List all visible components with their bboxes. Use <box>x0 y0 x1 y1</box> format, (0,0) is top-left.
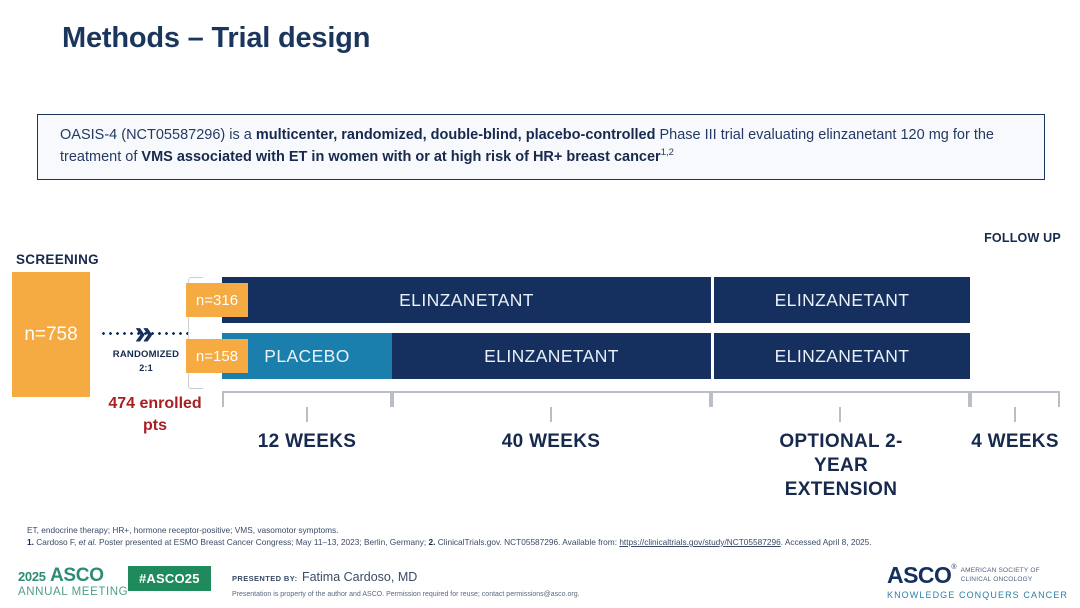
timeline-label-4-weeks: 4 WEEKS <box>950 430 1080 454</box>
trial-description-box: OASIS-4 (NCT05587296) is a multicenter, … <box>37 114 1045 180</box>
arm-bottom-segment-treatment-label: ELINZANETANT <box>484 346 619 367</box>
arm-bottom-segment-treatment: ELINZANETANT <box>392 333 711 379</box>
ref2-text-a: ClinicalTrials.gov. NCT05587296. Availab… <box>435 537 619 547</box>
timeline-label-12-weeks: 12 WEEKS <box>226 430 388 454</box>
trial-design-diagram: SCREENING n=758 » RANDOMIZED 2:1 ELINZAN… <box>0 225 1080 515</box>
asco-meeting-mark-line: 2025 ASCO <box>18 566 128 585</box>
timeline-tick-3 <box>839 407 841 422</box>
follow-up-label: FOLLOW UP <box>975 230 1070 246</box>
footnote-abbreviations: ET, endocrine therapy; HR+, hormone rece… <box>27 524 1047 536</box>
arm-top-segment-treatment: ELINZANETANT <box>222 277 711 323</box>
arm-bottom-n-box: n=158 <box>186 339 248 373</box>
randomized-ratio: 2:1 <box>139 363 153 373</box>
slide-root: Methods – Trial design OASIS-4 (NCT05587… <box>0 0 1080 608</box>
presenter-block: PRESENTED BY: Fatima Cardoso, MD Present… <box>232 568 580 598</box>
timeline-tick-4 <box>1014 407 1016 422</box>
screening-n-value: n=758 <box>24 324 77 346</box>
ref1-text-b: Poster presented at ESMO Breast Cancer C… <box>97 537 429 547</box>
asco-annual-meeting-logo: 2025 ASCO ANNUAL MEETING <box>18 566 128 599</box>
asco-meeting-mark: ASCO <box>50 565 104 586</box>
registered-trademark-icon: ® <box>951 564 956 571</box>
randomized-text: RANDOMIZED <box>113 349 179 360</box>
arm-top-segment-treatment-label: ELINZANETANT <box>399 290 534 311</box>
asco-meeting-year: 2025 <box>18 569 46 584</box>
asco-logo-top-row: ASCO® AMERICAN SOCIETY OF CLINICAL ONCOL… <box>887 564 1068 587</box>
asco-society-logo: ASCO® AMERICAN SOCIETY OF CLINICAL ONCOL… <box>887 564 1068 600</box>
randomized-label: RANDOMIZED 2:1 <box>100 349 192 376</box>
timeline-tick-1 <box>306 407 308 422</box>
screening-box: n=758 <box>12 272 90 397</box>
description-part1: OASIS-4 (NCT05587296) is a <box>60 127 256 143</box>
timeline-axis <box>0 391 1080 421</box>
double-chevron-right-icon: » <box>120 317 168 351</box>
description-bold1: multicenter, randomized, double-blind, p… <box>256 127 656 143</box>
screening-label: SCREENING <box>16 252 99 267</box>
timeline-bracket-3 <box>711 391 970 407</box>
timeline-label-40-weeks: 40 WEEKS <box>470 430 632 454</box>
ref1-number: 1. <box>27 537 34 547</box>
arm-top-n-value: n=316 <box>196 292 238 309</box>
asco-society-line1: AMERICAN SOCIETY OF <box>961 567 1040 574</box>
page-title: Methods – Trial design <box>62 22 370 55</box>
permission-notice: Presentation is property of the author a… <box>232 591 580 598</box>
presented-by-label: PRESENTED BY: <box>232 574 298 583</box>
description-superscript: 1,2 <box>661 148 674 159</box>
arm-top-n-box: n=316 <box>186 283 248 317</box>
ref1-italic: et al. <box>79 537 97 547</box>
asco-society-name: AMERICAN SOCIETY OF CLINICAL ONCOLOGY <box>961 567 1040 585</box>
timeline-bracket-2 <box>392 391 711 407</box>
arm-bottom-segment-extension-label: ELINZANETANT <box>775 346 910 367</box>
arm-bottom-n-value: n=158 <box>196 348 238 365</box>
arm-top-segment-extension: ELINZANETANT <box>711 277 970 323</box>
arm-top-segment-extension-label: ELINZANETANT <box>775 290 910 311</box>
timeline-bracket-1 <box>222 391 392 407</box>
arm-placebo: PLACEBO ELINZANETANT ELINZANETANT <box>222 333 970 379</box>
timeline-bracket-4 <box>970 391 1060 407</box>
footnotes: ET, endocrine therapy; HR+, hormone rece… <box>27 524 1047 548</box>
asco-logo-mark: ASCO <box>887 564 951 587</box>
arm-elinzanetant: ELINZANETANT ELINZANETANT <box>222 277 970 323</box>
description-bold2: VMS associated with ET in women with or … <box>141 149 660 165</box>
asco-society-line2: CLINICAL ONCOLOGY <box>961 576 1033 583</box>
timeline-label-extension: OPTIONAL 2-YEAR EXTENSION <box>755 430 927 501</box>
asco-tagline: KNOWLEDGE CONQUERS CANCER <box>887 590 1068 600</box>
arm-bottom-segment-placebo-label: PLACEBO <box>264 346 349 367</box>
presenter-name: Fatima Cardoso, MD <box>302 570 417 584</box>
asco-meeting-sub: ANNUAL MEETING <box>18 587 128 599</box>
timeline-tick-2 <box>550 407 552 422</box>
arm-bottom-segment-extension: ELINZANETANT <box>711 333 970 379</box>
hashtag-badge: #ASCO25 <box>128 566 211 591</box>
slide-footer: 2025 ASCO ANNUAL MEETING #ASCO25 PRESENT… <box>0 560 1080 608</box>
footnote-references: 1. Cardoso F, et al. Poster presented at… <box>27 536 1047 548</box>
clinicaltrials-link[interactable]: https://clinicaltrials.gov/study/NCT0558… <box>619 537 780 547</box>
ref1-text-a: Cardoso F, <box>34 537 79 547</box>
ref2-text-b: . Accessed April 8, 2025. <box>781 537 872 547</box>
